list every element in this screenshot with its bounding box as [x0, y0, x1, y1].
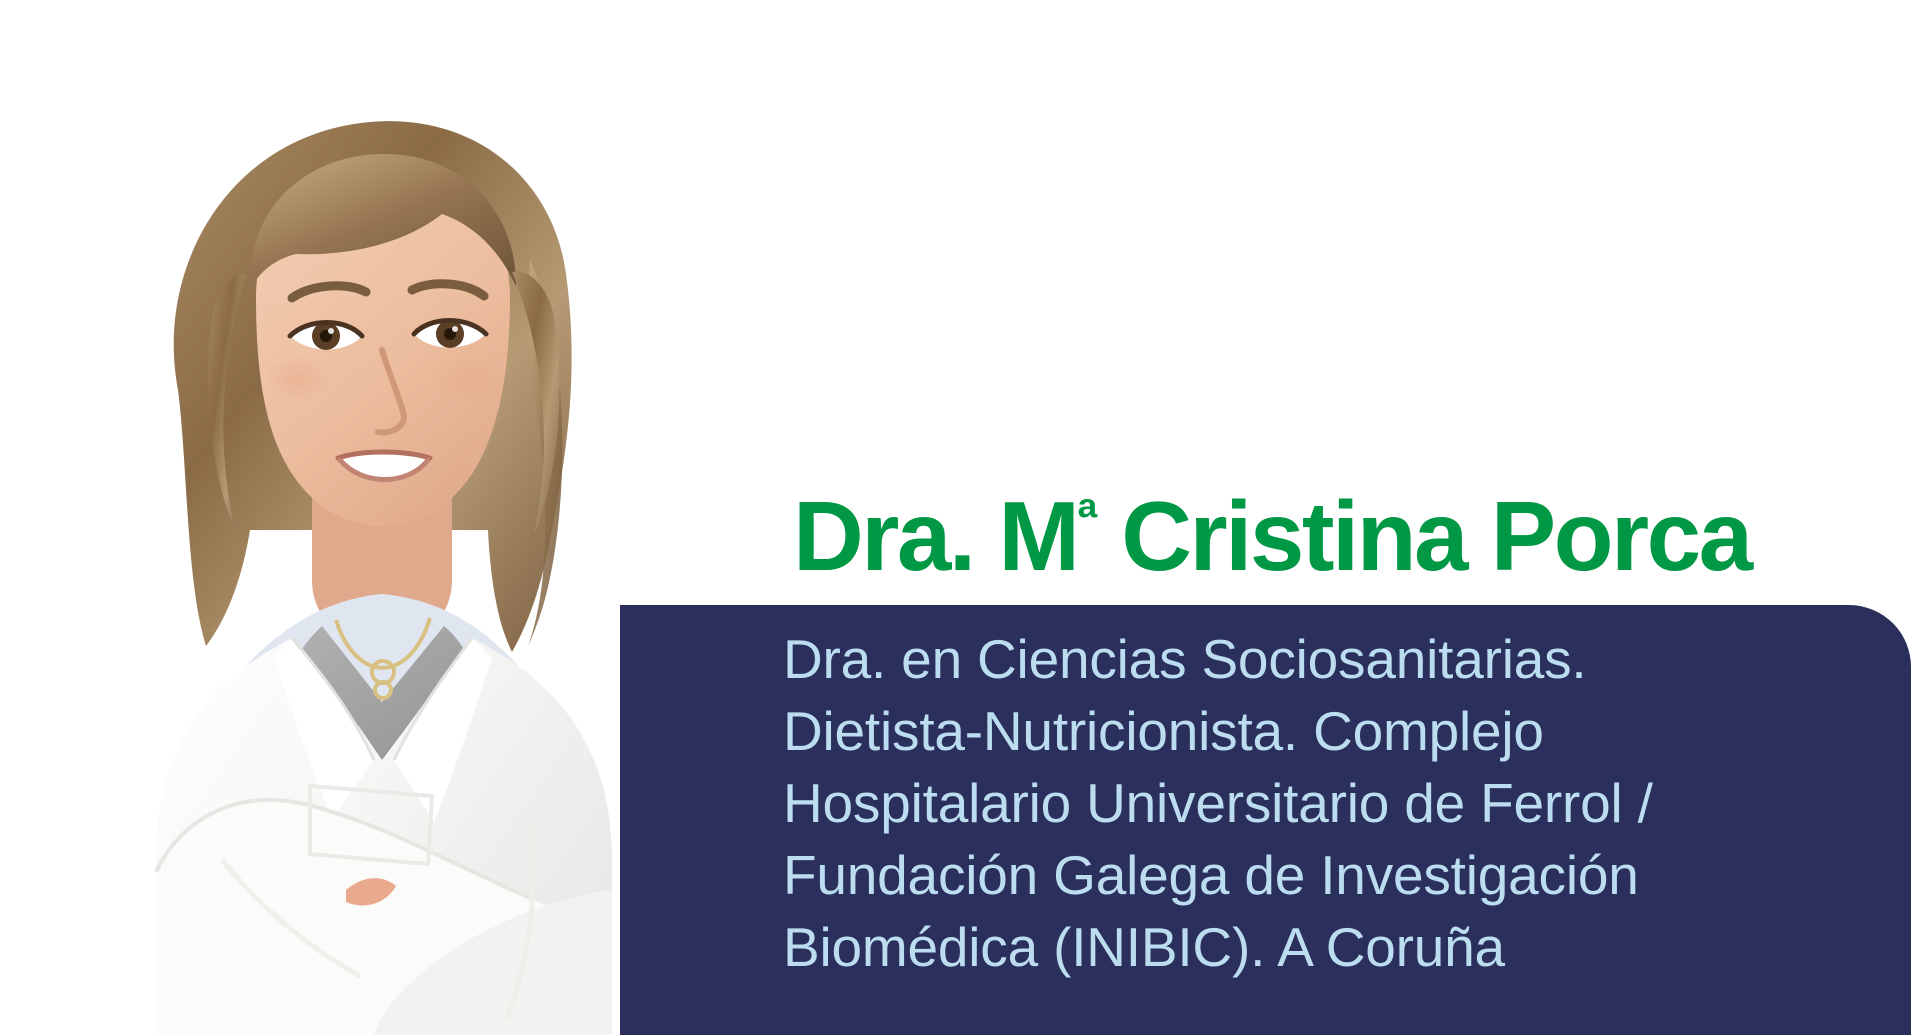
credentials-text: Dra. en Ciencias Sociosanitarias. Dietis… — [783, 623, 1863, 983]
speaker-name-suffix: Cristina Porca — [1096, 481, 1750, 591]
speaker-name: Dra. Mª Cristina Porca — [793, 487, 1751, 585]
speaker-name-prefix: Dra. M — [793, 481, 1078, 591]
ordinal-indicator-glyph: ª — [1078, 488, 1097, 548]
speaker-slide: Dra. en Ciencias Sociosanitarias. Dietis… — [0, 0, 1911, 1035]
speaker-portrait — [60, 60, 680, 1035]
credentials-panel: Dra. en Ciencias Sociosanitarias. Dietis… — [620, 605, 1911, 1035]
portrait-illustration — [60, 60, 680, 1035]
